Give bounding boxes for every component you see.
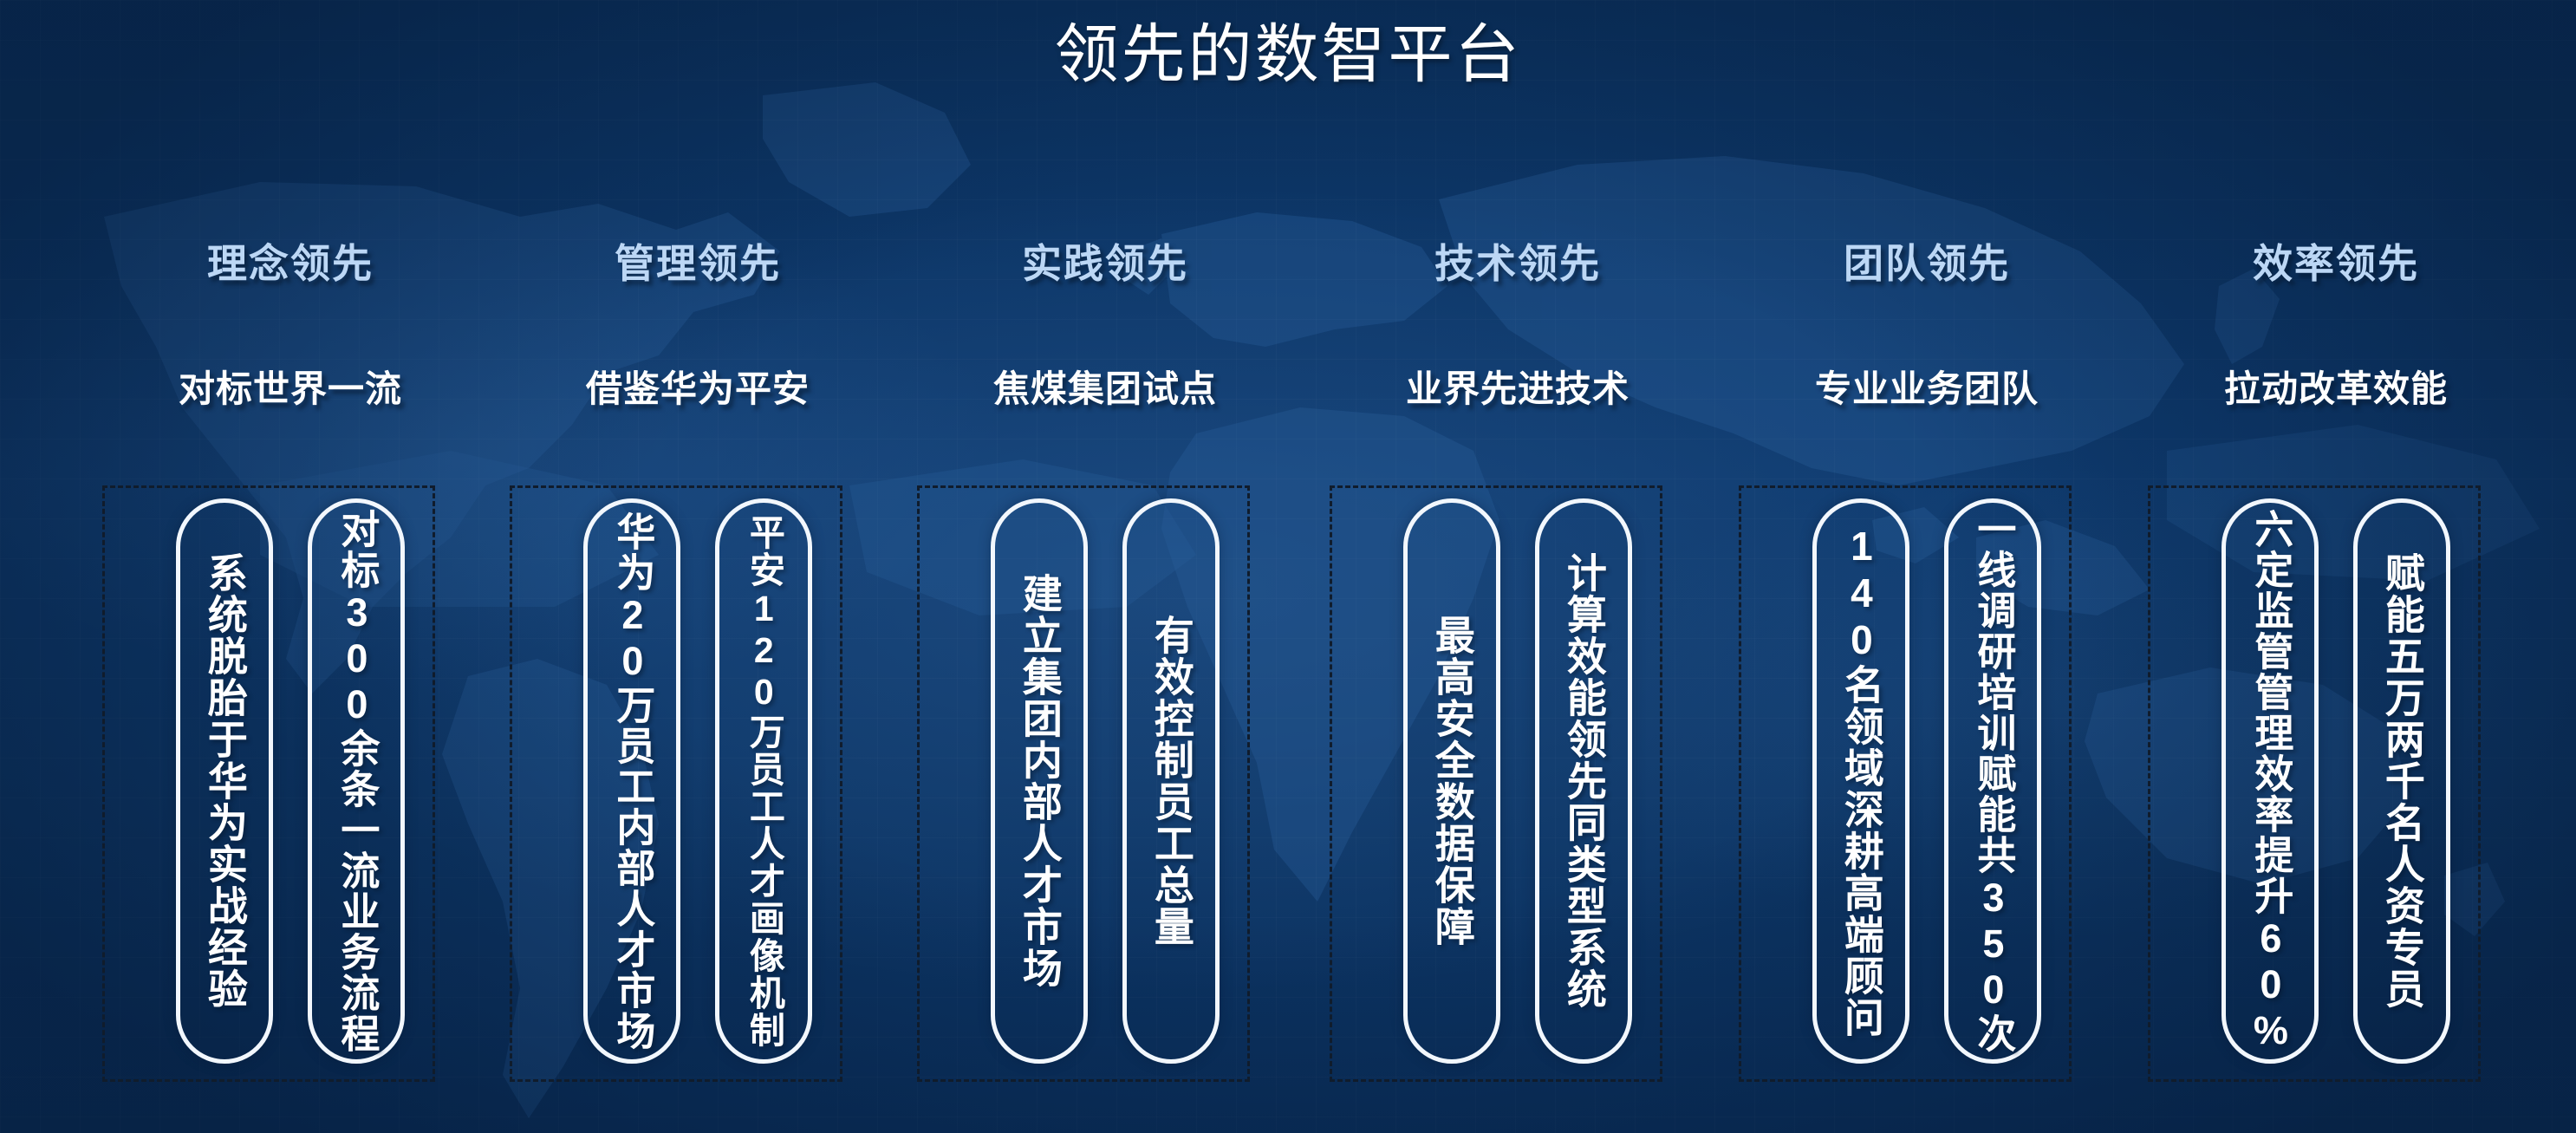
pill-3-1[interactable]: 建立集团内部人才市场 [991, 498, 1088, 1064]
pill-4-1-label: 最高安全数据保障 [1431, 615, 1473, 947]
pill-2-2-label: 平安120万员工人才画像机制 [745, 514, 783, 1049]
column-1-pills: 系统脱胎于华为实战经验 对标300余条一流业务流程 [87, 498, 494, 1064]
column-1-header: 理念领先 [87, 232, 494, 290]
column-6-header: 效率领先 [2132, 232, 2540, 290]
pill-1-1-label: 系统脱胎于华为实战经验 [204, 552, 245, 1010]
column-2: 管理领先 借鉴华为平安 华为20万员工内部人才市场 平安120万员工人才画像机制 [494, 0, 901, 1133]
pill-3-2[interactable]: 有效控制员工总量 [1122, 498, 1220, 1064]
pill-5-1[interactable]: 140名领域深耕高端顾问 [1812, 498, 1909, 1064]
pill-5-1-label: 140名领域深耕高端顾问 [1840, 524, 1882, 1039]
column-6-pills: 六定监管管理效率提升60% 赋能五万两千名人资专员 [2132, 498, 2540, 1064]
column-6: 效率领先 拉动改革效能 六定监管管理效率提升60% 赋能五万两千名人资专员 [2132, 0, 2540, 1133]
column-6-subtitle: 拉动改革效能 [2132, 360, 2540, 413]
column-5-pills: 140名领域深耕高端顾问 一线调研培训赋能共350次 [1723, 498, 2130, 1064]
pill-2-2[interactable]: 平安120万员工人才画像机制 [715, 498, 812, 1064]
pill-5-2-label: 一线调研培训赋能共350次 [1973, 509, 2013, 1054]
pill-1-2-label: 对标300余条一流业务流程 [336, 509, 377, 1054]
column-4-header: 技术领先 [1314, 232, 1721, 290]
pill-4-2[interactable]: 计算效能领先同类型系统 [1535, 498, 1632, 1064]
column-3-subtitle: 焦煤集团试点 [901, 360, 1309, 413]
column-1: 理念领先 对标世界一流 系统脱胎于华为实战经验 对标300余条一流业务流程 [87, 0, 494, 1133]
pill-3-1-label: 建立集团内部人才市场 [1018, 573, 1060, 989]
column-3: 实践领先 焦煤集团试点 建立集团内部人才市场 有效控制员工总量 [901, 0, 1309, 1133]
column-3-header: 实践领先 [901, 232, 1309, 290]
page-title: 领先的数智平台 [0, 19, 2576, 89]
pill-4-2-label: 计算效能领先同类型系统 [1563, 552, 1604, 1010]
column-5: 团队领先 专业业务团队 140名领域深耕高端顾问 一线调研培训赋能共350次 [1723, 0, 2130, 1133]
column-2-subtitle: 借鉴华为平安 [494, 360, 901, 413]
pill-2-1-label: 华为20万员工内部人才市场 [612, 511, 653, 1052]
column-5-subtitle: 专业业务团队 [1723, 360, 2130, 413]
column-2-pills: 华为20万员工内部人才市场 平安120万员工人才画像机制 [494, 498, 901, 1064]
column-1-subtitle: 对标世界一流 [87, 360, 494, 413]
column-4-pills: 最高安全数据保障 计算效能领先同类型系统 [1314, 498, 1721, 1064]
pill-2-1[interactable]: 华为20万员工内部人才市场 [583, 498, 680, 1064]
pill-1-1[interactable]: 系统脱胎于华为实战经验 [176, 498, 273, 1064]
column-2-header: 管理领先 [494, 232, 901, 290]
pill-1-2[interactable]: 对标300余条一流业务流程 [308, 498, 405, 1064]
pill-4-1[interactable]: 最高安全数据保障 [1403, 498, 1500, 1064]
pill-5-2[interactable]: 一线调研培训赋能共350次 [1944, 498, 2041, 1064]
column-4: 技术领先 业界先进技术 最高安全数据保障 计算效能领先同类型系统 [1314, 0, 1721, 1133]
pill-6-1[interactable]: 六定监管管理效率提升60% [2221, 498, 2319, 1064]
pill-6-1-label: 六定监管管理效率提升60% [2250, 509, 2291, 1054]
column-5-header: 团队领先 [1723, 232, 2130, 290]
pill-6-2-label: 赋能五万两千名人资专员 [2381, 552, 2423, 1010]
pill-6-2[interactable]: 赋能五万两千名人资专员 [2353, 498, 2450, 1064]
pill-3-2-label: 有效控制员工总量 [1150, 615, 1192, 947]
column-4-subtitle: 业界先进技术 [1314, 360, 1721, 413]
column-3-pills: 建立集团内部人才市场 有效控制员工总量 [901, 498, 1309, 1064]
columns-container: 理念领先 对标世界一流 系统脱胎于华为实战经验 对标300余条一流业务流程 管理… [0, 0, 2576, 1133]
